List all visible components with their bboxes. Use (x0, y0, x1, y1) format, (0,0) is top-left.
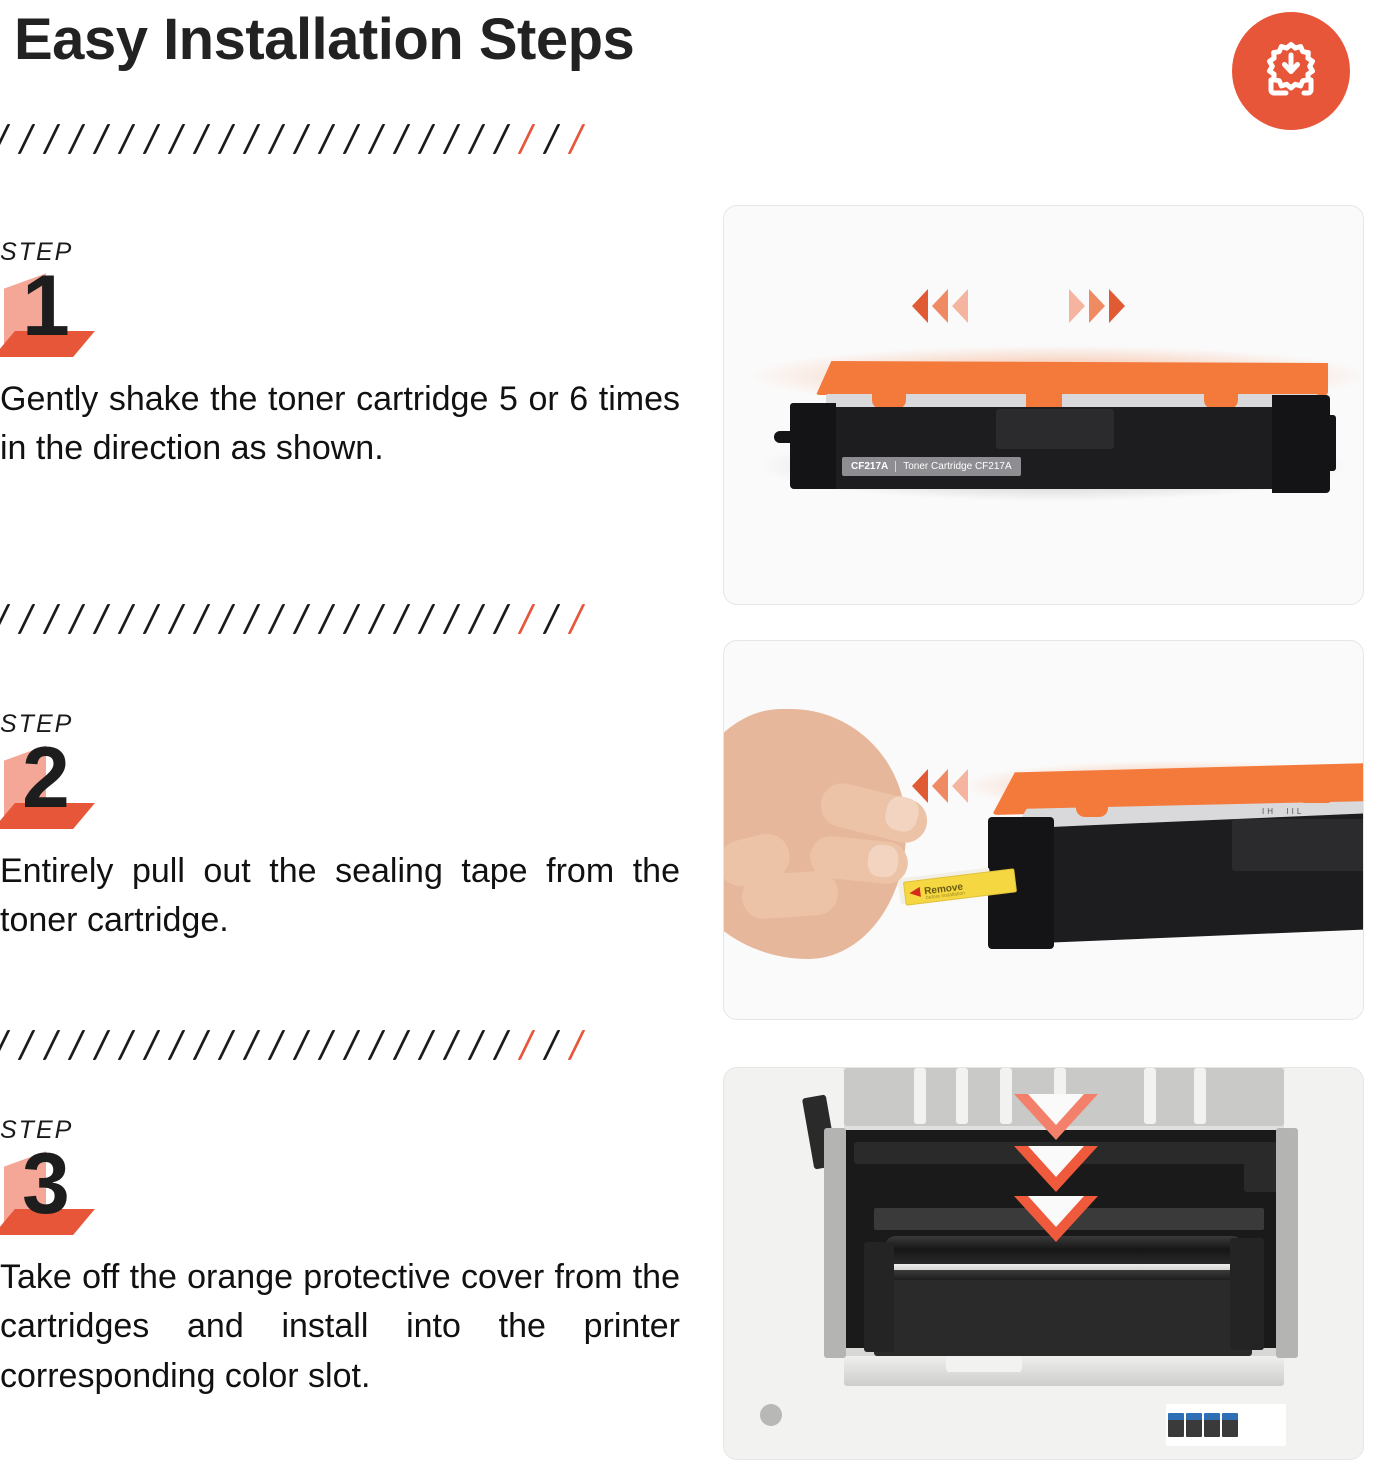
divider-slash (343, 124, 361, 154)
divider-slash (93, 124, 111, 154)
step-number-1: 1 (22, 263, 68, 349)
divider-slash (143, 604, 161, 634)
step-number-3: 3 (22, 1141, 68, 1227)
lid-fin (1144, 1068, 1156, 1124)
divider-slash (193, 604, 211, 634)
divider-slash (518, 1030, 536, 1060)
divider-slash (143, 1030, 161, 1060)
divider-slash (418, 124, 436, 154)
step-text-1: Gently shake the toner cartridge 5 or 6 … (0, 375, 680, 474)
step-image-card-1: CF217A Toner Cartridge CF217A (723, 205, 1364, 605)
divider-slash (493, 604, 511, 634)
divider-slash (543, 124, 561, 154)
tape-arrow-left-icon (909, 887, 921, 898)
cartridge-product-label: CF217A Toner Cartridge CF217A (842, 457, 1021, 476)
divider-slash (268, 124, 286, 154)
divider-slash (118, 1030, 136, 1060)
chevron-right-icon (1069, 289, 1085, 323)
chevron-down-icon (1014, 1146, 1098, 1192)
step-block-1: STEP 1 Gently shake the toner cartridge … (0, 240, 690, 474)
divider-slash (393, 124, 411, 154)
divider-slash (118, 604, 136, 634)
cartridge-handle-right (1310, 415, 1336, 471)
divider-slash (18, 604, 36, 634)
printer-screw (760, 1404, 782, 1426)
cartridge-drum-section (996, 409, 1114, 449)
divider-slash (343, 604, 361, 634)
page-header: Easy Installation Steps (0, 0, 1386, 120)
step-label-1: STEP (0, 240, 690, 265)
cartridge-endcap-left (790, 403, 836, 489)
divider-slash (118, 124, 136, 154)
cartridge-tab-right (1302, 783, 1330, 803)
divider-slash (468, 1030, 486, 1060)
divider-slash (0, 604, 10, 634)
divider-slash (393, 1030, 411, 1060)
divider-slash (293, 1030, 311, 1060)
shake-arrows-left (912, 289, 972, 323)
divider-slash (168, 124, 186, 154)
step-badge-2: 2 (0, 741, 96, 833)
chevron-left-icon (912, 769, 928, 803)
divider-slash (368, 124, 386, 154)
chevron-down-icon (1014, 1094, 1098, 1140)
divider-slash (0, 1030, 10, 1060)
divider-slash (318, 1030, 336, 1060)
divider-slash (443, 1030, 461, 1060)
sticker-pictogram (1222, 1413, 1238, 1437)
cartridge-orange-cover (816, 361, 1328, 395)
divider-slash (543, 604, 561, 634)
divider-slash (218, 604, 236, 634)
divider-slash (43, 124, 61, 154)
divider-slash (93, 1030, 111, 1060)
divider-slash (468, 604, 486, 634)
divider-slash (418, 604, 436, 634)
divider-slash (418, 1030, 436, 1060)
printer-instruction-sticker (1166, 1404, 1286, 1446)
divider-slash (243, 604, 261, 634)
chevron-left-icon (912, 289, 928, 323)
step-badge-3: 3 (0, 1147, 96, 1239)
install-badge (1232, 12, 1350, 130)
step-label-2: STEP (0, 712, 690, 737)
sticker-pictogram (1186, 1413, 1202, 1437)
divider-slash (568, 124, 586, 154)
divider-slash (243, 124, 261, 154)
divider-slash (368, 604, 386, 634)
cavity-wall-right (1276, 1128, 1298, 1358)
divider-2 (0, 602, 680, 636)
page-title: Easy Installation Steps (14, 7, 634, 74)
divider-slash (543, 1030, 561, 1060)
chevron-down-icon (1014, 1196, 1098, 1242)
divider-slash (243, 1030, 261, 1060)
lid-fin (1000, 1068, 1012, 1124)
lid-fin (956, 1068, 968, 1124)
label-separator (895, 461, 896, 472)
divider-slash (93, 604, 111, 634)
divider-1 (0, 122, 680, 156)
toner-cartridge: CF217A Toner Cartridge CF217A (774, 361, 1334, 501)
divider-slash (518, 124, 536, 154)
divider-3 (0, 1028, 680, 1062)
cartridge-tab-left (1076, 799, 1108, 817)
pull-direction-arrows (912, 769, 972, 803)
divider-slash (168, 1030, 186, 1060)
divider-slash (193, 1030, 211, 1060)
step-text-2: Entirely pull out the sealing tape from … (0, 847, 680, 946)
step-badge-1: 1 (0, 269, 96, 361)
divider-slash (443, 604, 461, 634)
sticker-pictogram (1168, 1413, 1184, 1437)
gear-download-install-icon (1255, 35, 1327, 107)
sticker-pictogram (1204, 1413, 1220, 1437)
lid-fin (1194, 1068, 1206, 1124)
divider-slash (343, 1030, 361, 1060)
divider-slash (218, 1030, 236, 1060)
divider-slash (368, 1030, 386, 1060)
divider-slash (443, 124, 461, 154)
step-label-3: STEP (0, 1118, 690, 1143)
cartridge-endcap-left (864, 1242, 894, 1352)
divider-slash (218, 124, 236, 154)
hand-pulling-sealing-tape-photo: IH IIL Remove before installation (724, 641, 1363, 1019)
divider-slash (143, 124, 161, 154)
divider-slash (293, 604, 311, 634)
divider-slash (493, 124, 511, 154)
divider-slash (293, 124, 311, 154)
printer-hinge-right (1244, 1146, 1280, 1192)
step-number-2: 2 (22, 735, 68, 821)
step-text-3: Take off the orange protective cover fro… (0, 1253, 680, 1401)
divider-slash (18, 1030, 36, 1060)
step-image-card-3 (723, 1067, 1364, 1460)
divider-slash (0, 124, 10, 154)
installed-cartridge (874, 1280, 1252, 1356)
divider-slash (493, 1030, 511, 1060)
divider-slash (393, 604, 411, 634)
divider-slash (268, 1030, 286, 1060)
divider-slash (68, 1030, 86, 1060)
divider-slash (18, 124, 36, 154)
chevron-left-icon (932, 289, 948, 323)
divider-slash (43, 604, 61, 634)
lid-fin (914, 1068, 926, 1124)
cartridge-label-code: CF217A (851, 461, 888, 472)
printer-open-cartridge-slot-photo (724, 1068, 1363, 1459)
chevron-left-icon (952, 769, 968, 803)
divider-slash (518, 604, 536, 634)
installation-steps-page: Easy Installation Steps STEP (0, 0, 1386, 1468)
divider-slash (68, 124, 86, 154)
divider-slash (43, 1030, 61, 1060)
step-image-card-2: IH IIL Remove before installation (723, 640, 1364, 1020)
cartridge-endcap-right (1230, 1238, 1264, 1350)
cartridge-label-name: Toner Cartridge CF217A (903, 461, 1011, 472)
divider-slash (318, 604, 336, 634)
chevron-right-icon (1109, 289, 1125, 323)
rail-notch (946, 1356, 1022, 1372)
cartridge-print-marks: IH IIL (1262, 807, 1304, 816)
divider-slash (268, 604, 286, 634)
divider-slash (318, 124, 336, 154)
divider-slash (468, 124, 486, 154)
divider-slash (193, 124, 211, 154)
divider-slash (568, 604, 586, 634)
step-block-2: STEP 2 Entirely pull out the sealing tap… (0, 712, 690, 946)
chevron-left-icon (932, 769, 948, 803)
cavity-wall-left (824, 1128, 846, 1358)
chevron-left-icon (952, 289, 968, 323)
divider-slash (568, 1030, 586, 1060)
cartridge-upper-panel (1232, 819, 1364, 871)
shake-arrows-right (1069, 289, 1129, 323)
divider-slash (68, 604, 86, 634)
step-block-3: STEP 3 Take off the orange protective co… (0, 1118, 690, 1401)
divider-slash (168, 604, 186, 634)
cartridge-axle-left (774, 431, 798, 443)
chevron-right-icon (1089, 289, 1105, 323)
toner-cartridge-shake-illustration: CF217A Toner Cartridge CF217A (724, 206, 1363, 604)
printer-front-rail (844, 1356, 1284, 1386)
